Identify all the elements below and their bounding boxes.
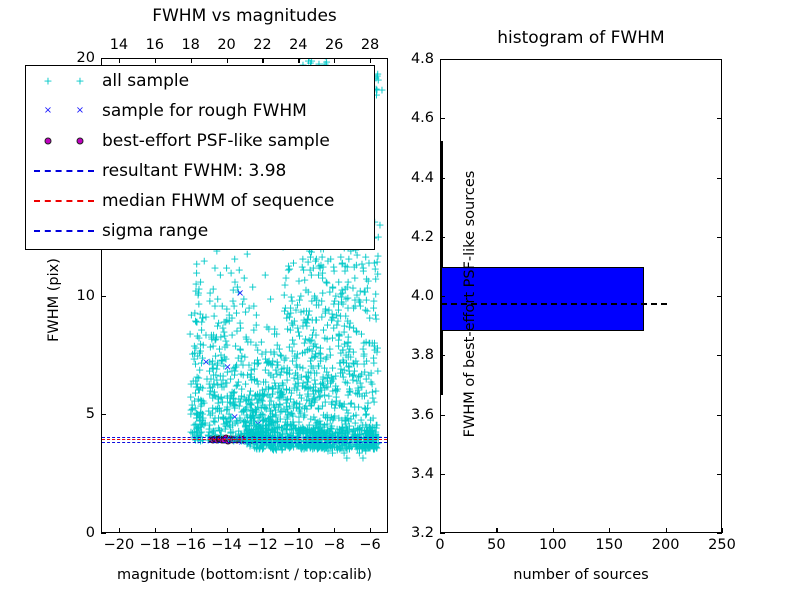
data-point-plus: + — [215, 406, 224, 417]
data-point-plus: + — [343, 378, 352, 389]
data-point-plus: + — [322, 426, 331, 437]
data-point-plus: + — [300, 410, 309, 421]
data-point-plus: + — [327, 412, 336, 423]
legend-label-4: median FHWM of sequence — [102, 191, 334, 211]
data-point-plus: + — [288, 346, 297, 357]
data-point-plus: + — [366, 414, 375, 425]
data-point-plus: + — [357, 391, 366, 402]
data-point-plus: + — [232, 360, 241, 371]
data-point-plus: + — [271, 410, 280, 421]
data-point-plus: + — [311, 426, 320, 437]
data-point-plus: + — [333, 426, 342, 437]
x-tick-label-bottom: −10 — [283, 537, 314, 553]
data-point-plus: + — [246, 406, 255, 417]
data-point-plus: + — [234, 377, 243, 388]
data-point-plus: + — [375, 220, 384, 231]
data-point-plus: + — [217, 426, 226, 437]
data-point-plus: + — [195, 347, 204, 358]
data-point-plus: + — [275, 391, 284, 402]
data-point-plus: + — [319, 442, 328, 453]
data-point-plus: + — [236, 397, 245, 408]
data-point-plus: + — [354, 372, 363, 383]
data-point-plus: + — [229, 399, 238, 410]
data-point-plus: + — [333, 443, 342, 454]
data-point-plus: + — [277, 423, 286, 434]
data-point-plus: + — [241, 421, 250, 432]
legend-entry-4[interactable]: median FHWM of sequence — [26, 186, 374, 216]
figure-canvas: FWHM vs magnitudes +++++++++++++++++++++… — [0, 0, 800, 600]
data-point-plus: + — [249, 425, 258, 436]
data-point-plus: + — [366, 422, 375, 433]
data-point-plus: + — [304, 59, 313, 63]
data-point-plus: + — [240, 404, 249, 415]
data-point-plus: + — [221, 353, 230, 364]
data-point-plus: + — [289, 423, 298, 434]
data-point-plus: + — [333, 316, 342, 327]
data-point-plus: + — [328, 282, 337, 293]
data-point-plus: + — [362, 425, 371, 436]
data-point-plus: + — [362, 442, 371, 453]
data-point-plus: + — [352, 376, 361, 387]
data-point-plus: + — [318, 439, 327, 450]
data-point-plus: + — [316, 260, 325, 271]
data-point-plus: + — [210, 412, 219, 423]
data-point-plus: + — [276, 387, 285, 398]
data-point-plus: + — [350, 262, 359, 273]
data-point-plus: + — [371, 429, 380, 440]
data-point-plus: + — [269, 444, 278, 455]
y-tick-label-hist: 3.8 — [392, 347, 434, 363]
data-point-plus: + — [262, 416, 271, 427]
data-point-plus: + — [223, 416, 232, 427]
data-point-plus: + — [258, 400, 267, 411]
data-point-plus: + — [252, 442, 261, 453]
data-point-plus: + — [228, 426, 237, 437]
data-point-plus: + — [321, 396, 330, 407]
x-tick-mark-hist — [722, 528, 723, 533]
data-point-plus: + — [352, 250, 361, 261]
data-point-plus: + — [334, 412, 343, 423]
data-point-plus: + — [242, 331, 251, 342]
data-point-plus: + — [266, 415, 275, 426]
data-point-plus: + — [253, 397, 262, 408]
data-point-plus: + — [299, 265, 308, 276]
data-point-plus: + — [297, 443, 306, 454]
data-point-plus: + — [226, 412, 235, 423]
data-point-plus: + — [218, 374, 227, 385]
data-point-plus: + — [283, 308, 292, 319]
data-point-plus: + — [191, 278, 200, 289]
data-point-plus: + — [336, 367, 345, 378]
data-point-plus: + — [266, 395, 275, 406]
data-point-plus: + — [309, 363, 318, 374]
data-point-plus: + — [220, 351, 229, 362]
data-point-plus: + — [308, 426, 317, 437]
data-point-plus: + — [372, 443, 381, 454]
data-point-plus: + — [217, 392, 226, 403]
data-point-plus: + — [285, 263, 294, 274]
data-point-plus: + — [266, 406, 275, 417]
data-point-plus: + — [345, 386, 354, 397]
data-point-plus: + — [198, 312, 207, 323]
data-point-plus: + — [365, 338, 374, 349]
data-point-plus: + — [248, 282, 257, 293]
data-point-plus: + — [272, 329, 281, 340]
data-point-plus: + — [188, 404, 197, 415]
data-point-plus: + — [248, 411, 257, 422]
data-point-plus: + — [300, 440, 309, 451]
data-point-plus: + — [252, 421, 261, 432]
data-point-plus: + — [194, 332, 203, 343]
data-point-plus: + — [356, 286, 365, 297]
data-point-plus: + — [343, 281, 352, 292]
data-point-plus: + — [250, 364, 259, 375]
data-point-plus: + — [263, 423, 272, 434]
legend-entry-2[interactable]: best-effort PSF-like sample — [26, 126, 374, 156]
legend-entry-3[interactable]: resultant FWHM: 3.98 — [26, 156, 374, 186]
data-point-plus: + — [205, 424, 214, 435]
data-point-plus: + — [197, 396, 206, 407]
y-tick-label-hist: 4.4 — [392, 170, 434, 186]
data-point-plus: + — [330, 442, 339, 453]
data-point-plus: + — [208, 340, 217, 351]
data-point-plus: + — [310, 291, 319, 302]
data-point-plus: + — [314, 260, 323, 271]
y-tick-label-hist: 3.4 — [392, 466, 434, 482]
data-point-plus: + — [365, 442, 374, 453]
data-point-plus: + — [304, 439, 313, 450]
data-point-plus: + — [195, 385, 204, 396]
data-point-plus: + — [332, 309, 341, 320]
data-point-plus: + — [285, 341, 294, 352]
data-point-plus: + — [315, 262, 324, 273]
data-point-plus: + — [270, 328, 279, 339]
data-point-plus: + — [364, 276, 373, 287]
data-point-plus: + — [318, 373, 327, 384]
data-point-plus: + — [250, 416, 259, 427]
data-point-plus: + — [265, 400, 274, 411]
data-point-plus: + — [242, 402, 251, 413]
data-point-plus: + — [293, 361, 302, 372]
data-point-plus: + — [327, 315, 336, 326]
data-point-plus: + — [372, 346, 381, 357]
data-point-plus: + — [322, 443, 331, 454]
data-point-plus: + — [285, 384, 294, 395]
x-tick-label-hist: 250 — [708, 537, 736, 553]
data-point-plus: + — [322, 366, 331, 377]
data-point-plus: + — [363, 282, 372, 293]
data-point-plus: + — [265, 420, 274, 431]
data-point-plus: + — [209, 425, 218, 436]
data-point-plus: + — [194, 372, 203, 383]
data-point-plus: + — [287, 420, 296, 431]
data-point-plus: + — [302, 372, 311, 383]
data-point-plus: + — [249, 416, 258, 427]
data-point-plus: + — [296, 291, 305, 302]
data-point-plus: + — [241, 417, 250, 428]
data-point-plus: + — [223, 391, 232, 402]
data-point-plus: + — [342, 453, 351, 464]
data-point-plus: + — [192, 413, 201, 424]
data-point-plus: + — [266, 293, 275, 304]
data-point-plus: + — [310, 352, 319, 363]
data-point-plus: + — [306, 251, 315, 262]
data-point-plus: + — [343, 424, 352, 435]
data-point-plus: + — [349, 358, 358, 369]
data-point-plus: + — [318, 443, 327, 454]
data-point-plus: + — [323, 376, 332, 387]
data-point-plus: + — [245, 417, 254, 428]
data-point-plus: + — [345, 361, 354, 372]
data-point-plus: + — [246, 336, 255, 347]
data-point-plus: + — [302, 429, 311, 440]
data-point-plus: + — [205, 356, 214, 367]
data-point-plus: + — [352, 325, 361, 336]
data-point-plus: + — [255, 442, 264, 453]
data-point-plus: + — [372, 443, 381, 454]
data-point-plus: + — [301, 317, 310, 328]
data-point-plus: + — [299, 412, 308, 423]
data-point-plus: + — [294, 426, 303, 437]
data-point-plus: + — [225, 396, 234, 407]
data-point-plus: + — [310, 443, 319, 454]
data-point-plus: + — [197, 316, 206, 327]
data-point-plus: + — [260, 401, 269, 412]
data-point-plus: + — [268, 443, 277, 454]
data-point-plus: + — [277, 406, 286, 417]
data-point-plus: + — [360, 402, 369, 413]
data-point-plus: + — [304, 425, 313, 436]
data-point-plus: + — [305, 395, 314, 406]
data-point-plus: + — [341, 424, 350, 435]
data-point-plus: + — [208, 381, 217, 392]
data-point-plus: + — [187, 310, 196, 321]
data-point-plus: + — [357, 424, 366, 435]
left-panel-title: FWHM vs magnitudes — [101, 6, 388, 26]
data-point-plus: + — [221, 336, 230, 347]
data-point-plus: + — [222, 417, 231, 428]
data-point-plus: + — [371, 313, 380, 324]
data-point-plus: + — [280, 355, 289, 366]
data-point-plus: + — [339, 356, 348, 367]
data-point-plus: + — [324, 370, 333, 381]
data-point-plus: + — [220, 330, 229, 341]
data-point-plus: + — [343, 426, 352, 437]
data-point-plus: + — [300, 442, 309, 453]
data-point-plus: + — [356, 378, 365, 389]
legend-entry-5[interactable]: sigma range — [26, 216, 374, 246]
x-tick-label-top: 14 — [110, 37, 128, 53]
data-point-plus: + — [276, 407, 285, 418]
data-point-plus: + — [249, 324, 258, 335]
data-point-plus: + — [210, 310, 219, 321]
data-point-plus: + — [328, 281, 337, 292]
data-point-plus: + — [356, 422, 365, 433]
data-point-plus: + — [210, 416, 219, 427]
data-point-plus: + — [271, 364, 280, 375]
data-point-plus: + — [237, 368, 246, 379]
data-point-plus: + — [271, 439, 280, 450]
data-point-plus: + — [319, 261, 328, 272]
data-point-plus: + — [266, 406, 275, 417]
data-point-plus: + — [309, 340, 318, 351]
histogram-axes[interactable] — [440, 59, 722, 533]
data-point-plus: + — [227, 267, 236, 278]
data-point-plus: + — [247, 395, 256, 406]
data-point-plus: + — [298, 423, 307, 434]
data-point-plus: + — [265, 439, 274, 450]
data-point-plus: + — [316, 419, 325, 430]
data-point-plus: + — [197, 426, 206, 437]
data-point-plus: + — [242, 425, 251, 436]
data-point-plus: + — [295, 439, 304, 450]
data-point-plus: + — [235, 412, 244, 423]
data-point-plus: + — [362, 274, 371, 285]
data-point-plus: + — [248, 406, 257, 417]
data-point-plus: + — [272, 411, 281, 422]
data-point-plus: + — [192, 258, 201, 269]
data-point-plus: + — [338, 368, 347, 379]
data-point-plus: + — [371, 385, 380, 396]
data-point-plus: + — [254, 393, 263, 404]
data-point-plus: + — [370, 397, 379, 408]
data-point-plus: + — [289, 372, 298, 383]
data-point-plus: + — [292, 397, 301, 408]
data-point-plus: + — [318, 273, 327, 284]
data-point-plus: + — [345, 444, 354, 455]
data-point-plus: + — [250, 413, 259, 424]
data-point-plus: + — [252, 424, 261, 435]
data-point-plus: + — [341, 376, 350, 387]
x-tick-label-top: 18 — [181, 37, 199, 53]
data-point-plus: + — [341, 442, 350, 453]
legend-entry-1[interactable]: ××sample for rough FWHM — [26, 96, 374, 126]
right-x-axis-label: number of sources — [440, 567, 722, 583]
data-point-plus: + — [277, 444, 286, 455]
data-point-plus: + — [312, 342, 321, 353]
data-point-plus: + — [322, 381, 331, 392]
data-point-plus: + — [266, 417, 275, 428]
data-point-plus: + — [227, 391, 236, 402]
data-point-plus: + — [306, 368, 315, 379]
data-point-plus: + — [360, 390, 369, 401]
data-point-plus: + — [296, 424, 305, 435]
data-point-plus: + — [312, 294, 321, 305]
data-point-plus: + — [296, 306, 305, 317]
data-point-plus: + — [278, 444, 287, 455]
data-point-plus: + — [213, 403, 222, 414]
data-point-plus: + — [268, 419, 277, 430]
data-point-plus: + — [264, 418, 273, 429]
data-point-plus: + — [252, 393, 261, 404]
data-point-plus: + — [338, 401, 347, 412]
data-point-plus: + — [360, 442, 369, 453]
data-point-plus: + — [342, 443, 351, 454]
data-point-plus: + — [301, 334, 310, 345]
data-point-plus: + — [337, 297, 346, 308]
data-point-plus: + — [220, 317, 229, 328]
data-point-plus: + — [280, 279, 289, 290]
data-point-plus: + — [247, 413, 256, 424]
data-point-plus: + — [258, 416, 267, 427]
data-point-plus: + — [231, 396, 240, 407]
data-point-plus: + — [305, 343, 314, 354]
data-point-plus: + — [192, 378, 201, 389]
data-point-plus: + — [226, 373, 235, 384]
data-point-plus: + — [344, 331, 353, 342]
data-point-plus: + — [355, 443, 364, 454]
data-point-plus: + — [188, 399, 197, 410]
data-point-plus: + — [313, 422, 322, 433]
data-point-plus: + — [197, 399, 206, 410]
data-point-plus: + — [234, 353, 243, 364]
data-point-plus: + — [250, 374, 259, 385]
data-point-plus: + — [299, 423, 308, 434]
data-point-plus: + — [283, 362, 292, 373]
data-point-plus: + — [287, 388, 296, 399]
data-point-plus: + — [312, 254, 321, 265]
data-point-plus: + — [275, 383, 284, 394]
data-point-plus: + — [359, 266, 368, 277]
data-point-plus: + — [263, 426, 272, 437]
data-point-plus: + — [217, 405, 226, 416]
data-point-plus: + — [329, 299, 338, 310]
data-point-plus: + — [248, 409, 257, 420]
data-point-plus: + — [318, 267, 327, 278]
data-point-plus: + — [286, 308, 295, 319]
data-point-plus: + — [193, 410, 202, 421]
data-point-plus: + — [214, 412, 223, 423]
data-point-plus: + — [306, 442, 315, 453]
data-point-plus: + — [202, 373, 211, 384]
data-point-plus: + — [280, 439, 289, 450]
data-point-plus: + — [252, 404, 261, 415]
data-point-plus: + — [234, 286, 243, 297]
data-point-plus: + — [246, 372, 255, 383]
data-point-plus: + — [318, 425, 327, 436]
data-point-plus: + — [219, 360, 228, 371]
data-point-plus: + — [340, 321, 349, 332]
data-point-plus: + — [338, 354, 347, 365]
data-point-plus: + — [200, 398, 209, 409]
data-point-plus: + — [297, 372, 306, 383]
data-point-plus: + — [194, 421, 203, 432]
data-point-plus: + — [304, 310, 313, 321]
data-point-plus: + — [196, 401, 205, 412]
data-point-plus: + — [341, 414, 350, 425]
data-point-plus: + — [319, 380, 328, 391]
data-point-plus: + — [261, 270, 270, 281]
data-point-plus: + — [343, 424, 352, 435]
data-point-plus: + — [192, 267, 201, 278]
data-point-plus: + — [308, 386, 317, 397]
data-point-plus: + — [286, 324, 295, 335]
data-point-plus: + — [289, 339, 298, 350]
data-point-plus: + — [219, 381, 228, 392]
data-point-plus: + — [328, 448, 337, 459]
legend-entry-0[interactable]: ++all sample — [26, 66, 374, 96]
data-point-plus: + — [349, 426, 358, 437]
data-point-plus: + — [365, 312, 374, 323]
data-point-plus: + — [328, 373, 337, 384]
data-point-plus: + — [307, 269, 316, 280]
data-point-plus: + — [295, 425, 304, 436]
data-point-plus: + — [321, 442, 330, 453]
data-point-plus: + — [310, 393, 319, 404]
data-point-plus: + — [209, 330, 218, 341]
data-point-plus: + — [294, 426, 303, 437]
data-point-plus: + — [342, 350, 351, 361]
